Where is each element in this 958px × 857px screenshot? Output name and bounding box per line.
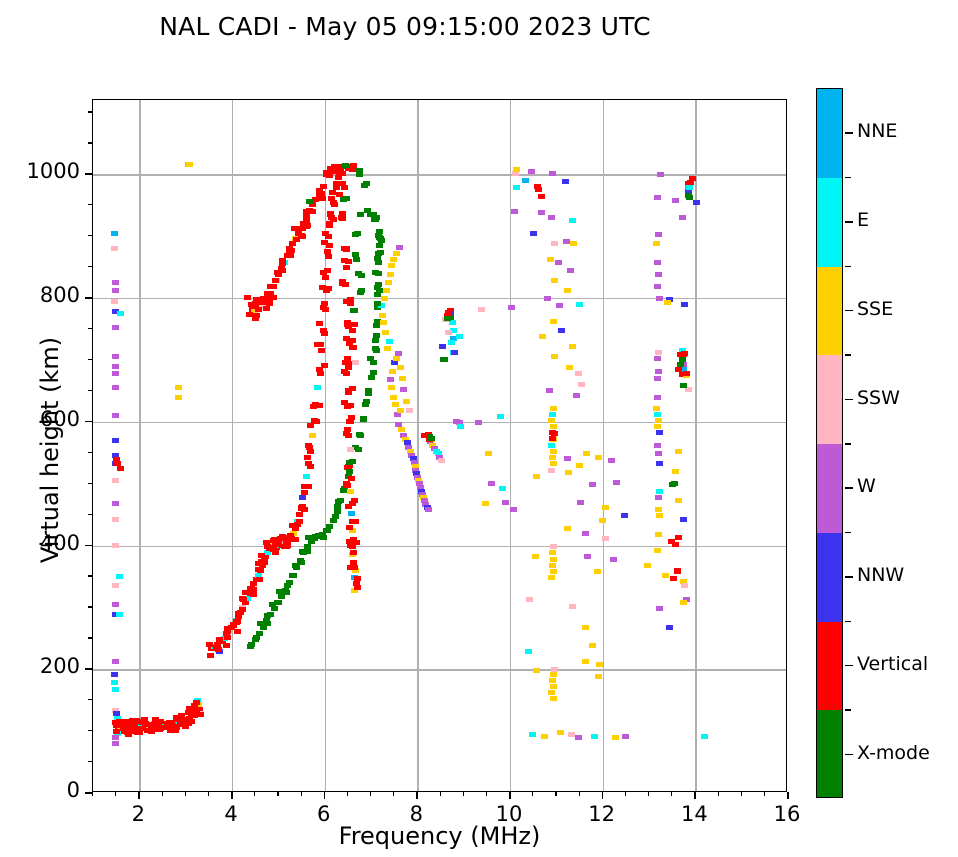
echo-point (112, 364, 119, 369)
x-axis-tick (602, 792, 604, 799)
echo-point (655, 272, 662, 277)
echo-point (279, 268, 286, 273)
y-axis-tick-label: 1000 (0, 159, 80, 183)
echo-point (451, 350, 458, 355)
echo-point (332, 514, 339, 519)
echo-point (112, 371, 119, 376)
echo-point (445, 330, 452, 335)
echo-point (538, 194, 545, 199)
colorbar-tick (845, 487, 853, 489)
echo-point (157, 719, 164, 724)
echo-point (352, 519, 359, 524)
echo-point (361, 183, 368, 188)
x-axis-tick (555, 792, 556, 796)
echo-point (279, 258, 286, 263)
colorbar-segment-w (817, 444, 842, 533)
echo-point (385, 280, 392, 285)
echo-point (549, 563, 556, 568)
x-axis-tick (741, 792, 742, 796)
echo-point (116, 612, 123, 617)
echo-point (475, 420, 482, 425)
echo-point (318, 348, 325, 353)
echo-point (224, 635, 231, 640)
y-axis-tick (85, 668, 92, 670)
y-axis-tick (88, 204, 92, 205)
echo-point (325, 286, 332, 291)
echo-point (365, 391, 372, 396)
y-axis-tick (88, 637, 92, 638)
echo-point (563, 239, 570, 244)
echo-point (550, 461, 557, 466)
echo-point (112, 501, 119, 506)
echo-point (544, 296, 551, 301)
y-axis-tick (88, 514, 92, 515)
data-points-layer (93, 100, 786, 791)
echo-point (656, 296, 663, 301)
echo-point (445, 310, 452, 315)
echo-point (339, 279, 346, 284)
echo-point (112, 354, 119, 359)
echo-point (287, 253, 294, 258)
echo-point (382, 330, 389, 335)
echo-point (670, 576, 677, 581)
echo-point (566, 365, 573, 370)
echo-point (360, 417, 367, 422)
echo-point (363, 399, 370, 404)
echo-point (675, 535, 682, 540)
echo-point (534, 184, 541, 189)
echo-point (390, 395, 397, 400)
echo-point (112, 583, 119, 588)
echo-point (367, 356, 374, 361)
y-axis-tick (88, 699, 92, 700)
echo-point (612, 735, 619, 740)
echo-point (368, 375, 375, 380)
echo-point (689, 176, 696, 181)
echo-point (296, 512, 303, 517)
echo-point (599, 518, 606, 523)
echo-point (349, 328, 356, 333)
colorbar-segment-nne (817, 89, 842, 178)
echo-point (533, 668, 540, 673)
echo-point (550, 569, 557, 574)
echo-point (655, 451, 662, 456)
echo-point (175, 395, 182, 400)
echo-point (654, 376, 661, 381)
echo-point (578, 382, 585, 387)
echo-point (511, 209, 518, 214)
echo-point (304, 549, 311, 554)
colorbar-tick (845, 221, 853, 223)
echo-point (655, 532, 662, 537)
echo-point (175, 385, 182, 390)
echo-point (395, 351, 402, 356)
echo-point (216, 637, 223, 642)
plot-area (92, 99, 787, 792)
echo-point (307, 449, 314, 454)
echo-point (112, 659, 119, 664)
echo-point (358, 273, 365, 278)
echo-point (392, 402, 399, 407)
echo-point (575, 371, 582, 376)
echo-point (299, 495, 306, 500)
echo-point (406, 408, 413, 413)
echo-point (551, 354, 558, 359)
echo-point (549, 678, 556, 683)
echo-point (345, 464, 352, 469)
echo-point (397, 408, 404, 413)
colorbar-tick (845, 310, 853, 312)
echo-point (582, 531, 589, 536)
echo-point (613, 480, 620, 485)
echo-point (582, 659, 589, 664)
colorbar-label-nnw: NNW (857, 564, 904, 586)
echo-point (111, 299, 118, 304)
echo-point (529, 732, 536, 737)
echo-point (680, 383, 687, 388)
echo-point (478, 307, 485, 312)
echo-point (223, 643, 230, 648)
y-axis-tick (85, 545, 92, 547)
x-axis-tick (532, 792, 533, 796)
colorbar-label-w: W (857, 475, 876, 497)
echo-point (662, 573, 669, 578)
echo-point (551, 431, 558, 436)
echo-point (354, 576, 361, 581)
y-axis-tick (88, 761, 92, 762)
colorbar-label-x-mode: X-mode (857, 742, 930, 764)
echo-point (112, 735, 119, 740)
echo-point (321, 363, 328, 368)
echo-point (310, 404, 317, 409)
echo-point (602, 505, 609, 510)
echo-point (444, 316, 451, 321)
echo-point (255, 307, 262, 312)
echo-point (576, 463, 583, 468)
echo-point (112, 543, 119, 548)
echo-point (271, 606, 278, 611)
echo-point (374, 256, 381, 261)
echo-point (321, 331, 328, 336)
echo-point (595, 674, 602, 679)
echo-point (298, 560, 305, 565)
echo-point (596, 662, 603, 667)
echo-point (346, 525, 353, 530)
echo-point (602, 536, 609, 541)
echo-point (550, 696, 557, 701)
echo-point (448, 340, 455, 345)
echo-point (345, 390, 352, 395)
x-axis-tick (718, 792, 719, 796)
echo-point (253, 635, 260, 640)
echo-point (393, 251, 400, 256)
echo-point (375, 233, 382, 238)
colorbar-label-vertical: Vertical (857, 653, 928, 675)
echo-point (351, 498, 358, 503)
echo-point (397, 365, 404, 370)
echo-point (350, 308, 357, 313)
echo-point (701, 734, 708, 739)
echo-point (622, 734, 629, 739)
echo-point (655, 507, 662, 512)
echo-point (569, 604, 576, 609)
echo-point (304, 455, 311, 460)
y-axis-tick (88, 359, 92, 360)
x-axis-tick (324, 792, 326, 799)
echo-point (250, 581, 257, 586)
x-axis-tick (393, 792, 394, 796)
echo-point (215, 647, 222, 652)
echo-point (674, 568, 681, 573)
echo-point (301, 507, 308, 512)
y-axis-tick (88, 575, 92, 576)
echo-point (283, 590, 290, 595)
colorbar-boundary-tick (845, 177, 851, 179)
colorbar-label-sse: SSE (857, 298, 893, 320)
echo-point (343, 196, 350, 201)
echo-point (654, 424, 661, 429)
echo-point (188, 719, 195, 724)
x-axis-tick (648, 792, 649, 796)
echo-point (439, 344, 446, 349)
echo-point (457, 424, 464, 429)
echo-point (324, 528, 331, 533)
echo-point (352, 360, 359, 365)
echo-point (263, 540, 270, 545)
echo-point (286, 246, 293, 251)
echo-point (261, 555, 268, 560)
x-axis-tick (162, 792, 163, 796)
echo-point (117, 466, 124, 471)
echo-point (569, 344, 576, 349)
y-axis-tick (88, 235, 92, 236)
echo-point (558, 328, 565, 333)
echo-point (428, 436, 435, 441)
echo-point (256, 577, 263, 582)
colorbar-tick (845, 399, 853, 401)
echo-point (247, 644, 254, 649)
echo-point (456, 334, 463, 339)
echo-point (341, 185, 348, 190)
echo-point (610, 557, 617, 562)
echo-point (343, 431, 350, 436)
echo-point (112, 280, 119, 285)
echo-point (331, 202, 338, 207)
colorbar-segment-nnw (817, 533, 842, 622)
echo-point (653, 241, 660, 246)
echo-point (485, 451, 492, 456)
echo-point (322, 231, 329, 236)
echo-point (111, 672, 118, 677)
echo-point (655, 418, 662, 423)
x-axis-tick (347, 792, 348, 796)
echo-point (139, 720, 146, 725)
echo-point (191, 703, 198, 708)
echo-point (235, 611, 242, 616)
x-axis-tick (440, 792, 441, 796)
echo-point (555, 260, 562, 265)
echo-point (687, 180, 694, 185)
echo-point (653, 406, 660, 411)
echo-point (283, 544, 290, 549)
echo-point (250, 592, 257, 597)
echo-point (550, 319, 557, 324)
echo-point (305, 484, 312, 489)
echo-point (654, 548, 661, 553)
echo-point (488, 481, 495, 486)
echo-point (533, 474, 540, 479)
echo-point (513, 167, 520, 172)
echo-point (292, 537, 299, 542)
echo-point (234, 629, 241, 634)
echo-point (343, 265, 350, 270)
echo-point (111, 680, 118, 685)
echo-point (549, 171, 556, 176)
echo-point (677, 352, 684, 357)
echo-point (608, 458, 615, 463)
echo-point (679, 215, 686, 220)
echo-point (348, 511, 355, 516)
echo-point (548, 468, 555, 473)
echo-point (654, 195, 661, 200)
x-axis-tick (370, 792, 371, 796)
y-axis-tick (88, 390, 92, 391)
echo-point (399, 376, 406, 381)
echo-point (550, 424, 557, 429)
echo-point (386, 339, 393, 344)
echo-point (112, 438, 119, 443)
echo-point (136, 730, 143, 735)
echo-point (309, 209, 316, 214)
x-axis-tick (671, 792, 672, 796)
echo-point (680, 517, 687, 522)
echo-point (562, 179, 569, 184)
echo-point (255, 567, 262, 572)
echo-point (334, 504, 341, 509)
echo-point (307, 464, 314, 469)
colorbar-boundary-tick (845, 266, 851, 268)
echo-point (240, 597, 247, 602)
echo-point (112, 478, 119, 483)
x-axis-tick (115, 792, 116, 796)
x-axis-tick (787, 792, 789, 799)
echo-point (343, 247, 350, 252)
y-axis-tick (88, 452, 92, 453)
echo-point (589, 643, 596, 648)
echo-point (326, 223, 333, 228)
colorbar-segment-vertical (817, 622, 842, 711)
echo-point (539, 334, 546, 339)
y-axis-title: Virtual height (km) (36, 250, 64, 650)
echo-point (354, 585, 361, 590)
echo-point (655, 369, 662, 374)
echo-point (549, 455, 556, 460)
echo-point (513, 185, 520, 190)
echo-point (387, 377, 394, 382)
echo-point (309, 433, 316, 438)
echo-point (532, 554, 539, 559)
echo-point (384, 346, 391, 351)
colorbar-segment-sse (817, 267, 842, 356)
echo-point (644, 563, 651, 568)
echo-point (316, 321, 323, 326)
echo-point (573, 393, 580, 398)
echo-point (182, 724, 189, 729)
echo-point (548, 418, 555, 423)
echo-point (379, 313, 386, 318)
echo-point (374, 301, 381, 306)
echo-point (389, 369, 396, 374)
echo-point (550, 406, 557, 411)
echo-point (565, 470, 572, 475)
echo-point (343, 481, 350, 486)
echo-point (264, 621, 271, 626)
echo-point (301, 490, 308, 495)
echo-point (502, 500, 509, 505)
y-axis-tick (88, 483, 92, 484)
colorbar-label-e: E (857, 209, 869, 231)
echo-point (655, 232, 662, 237)
echo-point (681, 583, 688, 588)
echo-point (193, 710, 200, 715)
echo-point (556, 303, 563, 308)
echo-point (550, 557, 557, 562)
echo-point (387, 272, 394, 277)
echo-point (374, 285, 381, 290)
echo-point (548, 690, 555, 695)
colorbar-segment-e (817, 178, 842, 267)
echo-point (112, 413, 119, 418)
echo-point (346, 469, 353, 474)
x-axis-tick (625, 792, 626, 796)
echo-point (675, 367, 682, 372)
y-axis-tick (88, 111, 92, 112)
echo-point (322, 275, 329, 280)
echo-point (564, 526, 571, 531)
echo-point (117, 311, 124, 316)
y-axis-tick (88, 328, 92, 329)
echo-point (272, 550, 279, 555)
echo-point (577, 500, 584, 505)
echo-point (275, 600, 282, 605)
echo-point (557, 730, 564, 735)
echo-point (564, 456, 571, 461)
echo-point (551, 278, 558, 283)
echo-point (440, 357, 447, 362)
echo-point (320, 535, 327, 540)
echo-point (306, 199, 313, 204)
echo-point (551, 241, 558, 246)
colorbar-segment-ssw (817, 355, 842, 444)
echo-point (348, 415, 355, 420)
echo-point (357, 212, 364, 217)
echo-point (328, 196, 335, 201)
echo-point (353, 257, 360, 262)
echo-point (657, 172, 664, 177)
echo-point (681, 302, 688, 307)
echo-point (482, 501, 489, 506)
echo-point (550, 544, 557, 549)
echo-point (686, 195, 693, 200)
echo-point (112, 602, 119, 607)
echo-point (112, 288, 119, 293)
echo-point (550, 672, 557, 677)
echo-point (449, 320, 456, 325)
echo-point (346, 460, 353, 465)
echo-point (510, 507, 517, 512)
echo-point (186, 162, 193, 167)
echo-point (656, 489, 663, 494)
